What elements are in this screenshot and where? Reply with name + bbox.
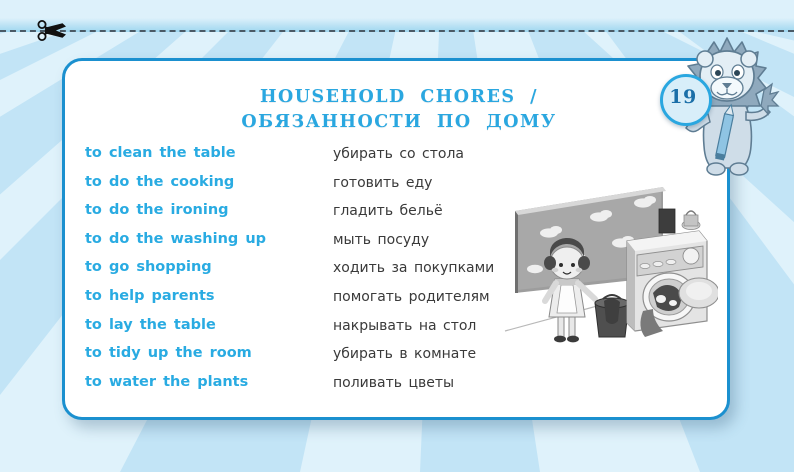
vocab-russian: убирать в комнате (333, 346, 583, 362)
vocab-russian: поливать цветы (333, 375, 583, 391)
vocabulary-card: HOUSEHOLD CHORES / ОБЯЗАННОСТИ ПО ДОМУ (62, 58, 730, 420)
scissors-icon (36, 14, 70, 48)
vocab-english: to do the ironing (85, 202, 325, 218)
vocab-russian: помогать родителям (333, 289, 583, 305)
vocab-english: to water the plants (85, 374, 325, 390)
vocab-russian: гладить бельё (333, 203, 583, 219)
vocab-english: to lay the table (85, 317, 325, 333)
vocabulary-row: to tidy up the room убирать в комнате (85, 345, 715, 374)
vocabulary-row: to do the washing up мыть посуду (85, 231, 715, 260)
vocabulary-row: to water the plants поливать цветы (85, 374, 715, 403)
card-title-line1: HOUSEHOLD CHORES / (260, 87, 538, 107)
vocab-russian: убирать со стола (333, 146, 583, 162)
vocab-russian: мыть посуду (333, 232, 583, 248)
worksheet-page: HOUSEHOLD CHORES / ОБЯЗАННОСТИ ПО ДОМУ (0, 0, 794, 472)
vocab-english: to help parents (85, 288, 325, 304)
card-title: HOUSEHOLD CHORES / ОБЯЗАННОСТИ ПО ДОМУ (65, 85, 733, 135)
vocabulary-row: to clean the table убирать со стола (85, 145, 715, 174)
vocab-russian: готовить еду (333, 175, 583, 191)
vocabulary-row: to do the cooking готовить еду (85, 174, 715, 203)
vocab-english: to do the washing up (85, 231, 325, 247)
vocab-english: to clean the table (85, 145, 325, 161)
vocabulary-row: to do the ironing гладить бельё (85, 202, 715, 231)
vocabulary-row: to go shopping ходить за покупками (85, 259, 715, 288)
vocab-english: to tidy up the room (85, 345, 325, 361)
card-title-line2: ОБЯЗАННОСТИ ПО ДОМУ (65, 110, 733, 135)
page-number-badge: 19 (660, 74, 712, 126)
vocab-russian: ходить за покупками (333, 260, 583, 276)
vocab-english: to go shopping (85, 259, 325, 275)
vocabulary-list: to clean the table убирать со стола to d… (85, 145, 715, 402)
vocab-russian: накрывать на стол (333, 318, 583, 334)
vocabulary-row: to help parents помогать родителям (85, 288, 715, 317)
page-number: 19 (663, 77, 703, 117)
vocabulary-row: to lay the table накрывать на стол (85, 317, 715, 346)
vocab-english: to do the cooking (85, 174, 325, 190)
